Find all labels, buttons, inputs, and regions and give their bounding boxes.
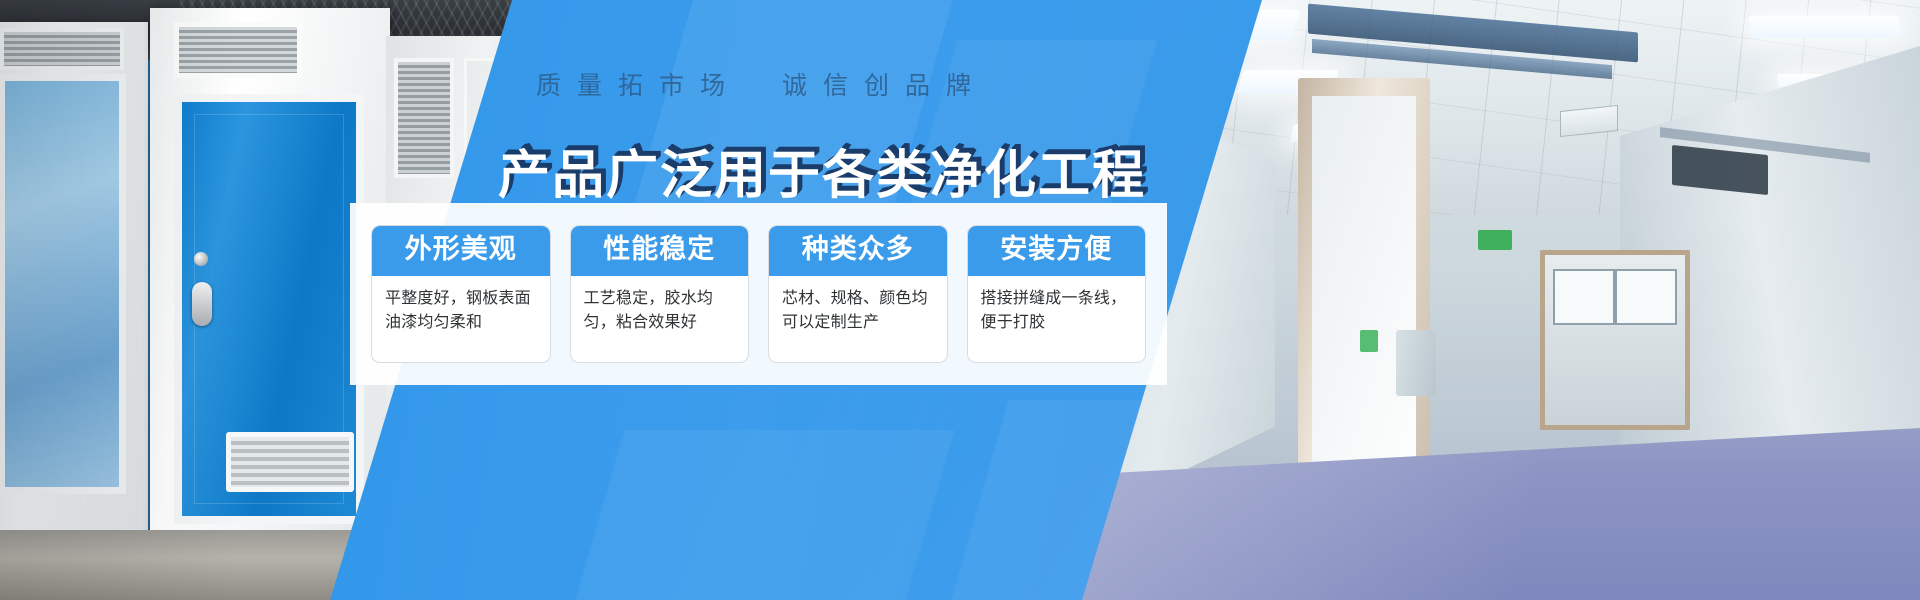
feature-card-title: 安装方便 — [968, 226, 1146, 276]
feature-card-title: 性能稳定 — [571, 226, 749, 276]
feature-card[interactable]: 性能稳定 工艺稳定，胶水均匀，粘合效果好 — [570, 225, 750, 363]
banner-tagline: 质量拓市场 诚信创品牌 — [520, 74, 1080, 99]
decorative-shape — [576, 430, 955, 600]
feature-card[interactable]: 种类众多 芯材、规格、颜色均可以定制生产 — [768, 225, 948, 363]
feature-card-panel: 外形美观 平整度好，钢板表面油漆均匀柔和 性能稳定 工艺稳定，胶水均匀，粘合效果… — [350, 203, 1167, 385]
promo-banner: 质量拓市场 诚信创品牌 产品广泛用于各类净化工程 外形美观 平整度好，钢板表面油… — [0, 0, 1920, 600]
feature-card-body: 搭接拼缝成一条线，便于打胶 — [968, 276, 1146, 343]
feature-card[interactable]: 外形美观 平整度好，钢板表面油漆均匀柔和 — [371, 225, 551, 363]
feature-card-body: 平整度好，钢板表面油漆均匀柔和 — [372, 276, 550, 343]
feature-card-title: 种类众多 — [769, 226, 947, 276]
feature-card-body: 工艺稳定，胶水均匀，粘合效果好 — [571, 276, 749, 343]
feature-card-list: 外形美观 平整度好，钢板表面油漆均匀柔和 性能稳定 工艺稳定，胶水均匀，粘合效果… — [350, 203, 1167, 385]
feature-card-body: 芯材、规格、颜色均可以定制生产 — [769, 276, 947, 343]
exit-sign — [1360, 330, 1378, 352]
corridor-cabinet — [1396, 330, 1436, 396]
ceiling-light — [1748, 16, 1902, 38]
banner-headline: 产品广泛用于各类净化工程 — [498, 150, 1118, 202]
exit-sign — [1478, 230, 1512, 250]
feature-card[interactable]: 安装方便 搭接拼缝成一条线，便于打胶 — [967, 225, 1147, 363]
double-door — [1540, 250, 1690, 430]
feature-card-title: 外形美观 — [372, 226, 550, 276]
corridor-doorway — [1298, 78, 1430, 478]
